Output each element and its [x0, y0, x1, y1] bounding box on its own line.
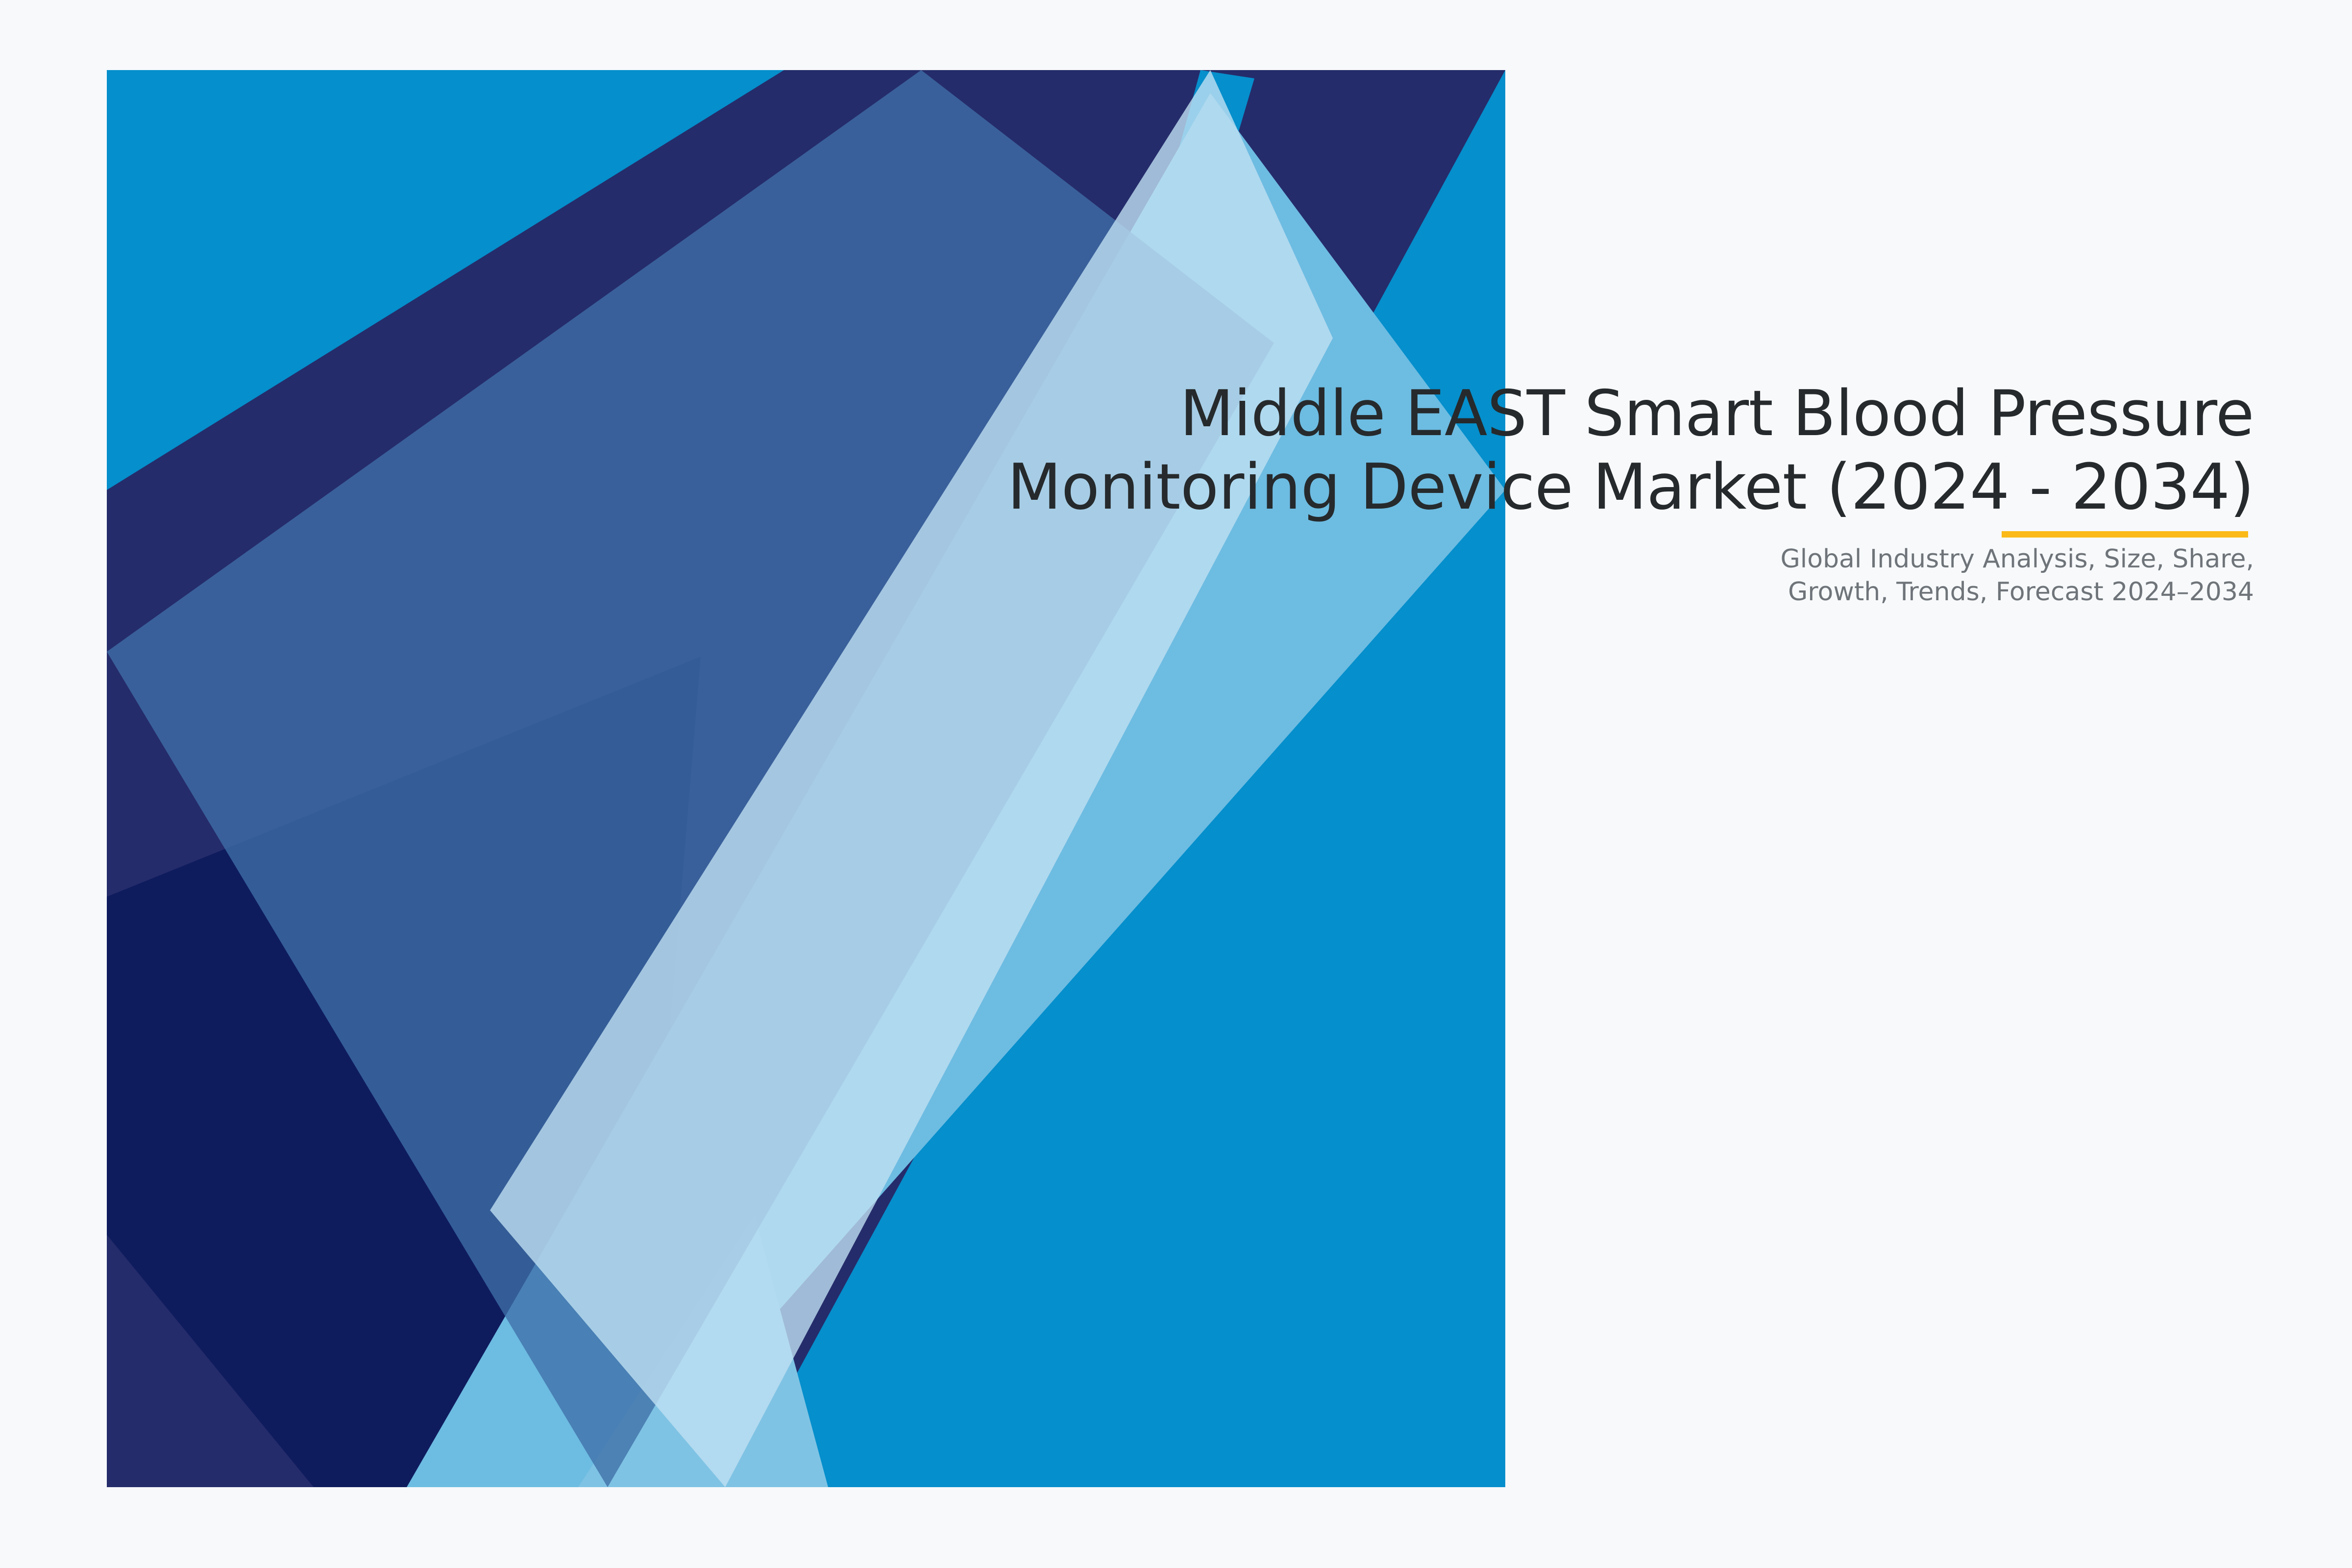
title-underline-bar: [2002, 531, 2248, 538]
cover-text-block: Middle EAST Smart Blood Pressure Monitor…: [931, 377, 2254, 609]
page-title: Middle EAST Smart Blood Pressure Monitor…: [931, 377, 2254, 524]
cover-slide: Middle EAST Smart Blood Pressure Monitor…: [0, 0, 2352, 1568]
abstract-geometric-cover-graphic: [0, 0, 2352, 1568]
